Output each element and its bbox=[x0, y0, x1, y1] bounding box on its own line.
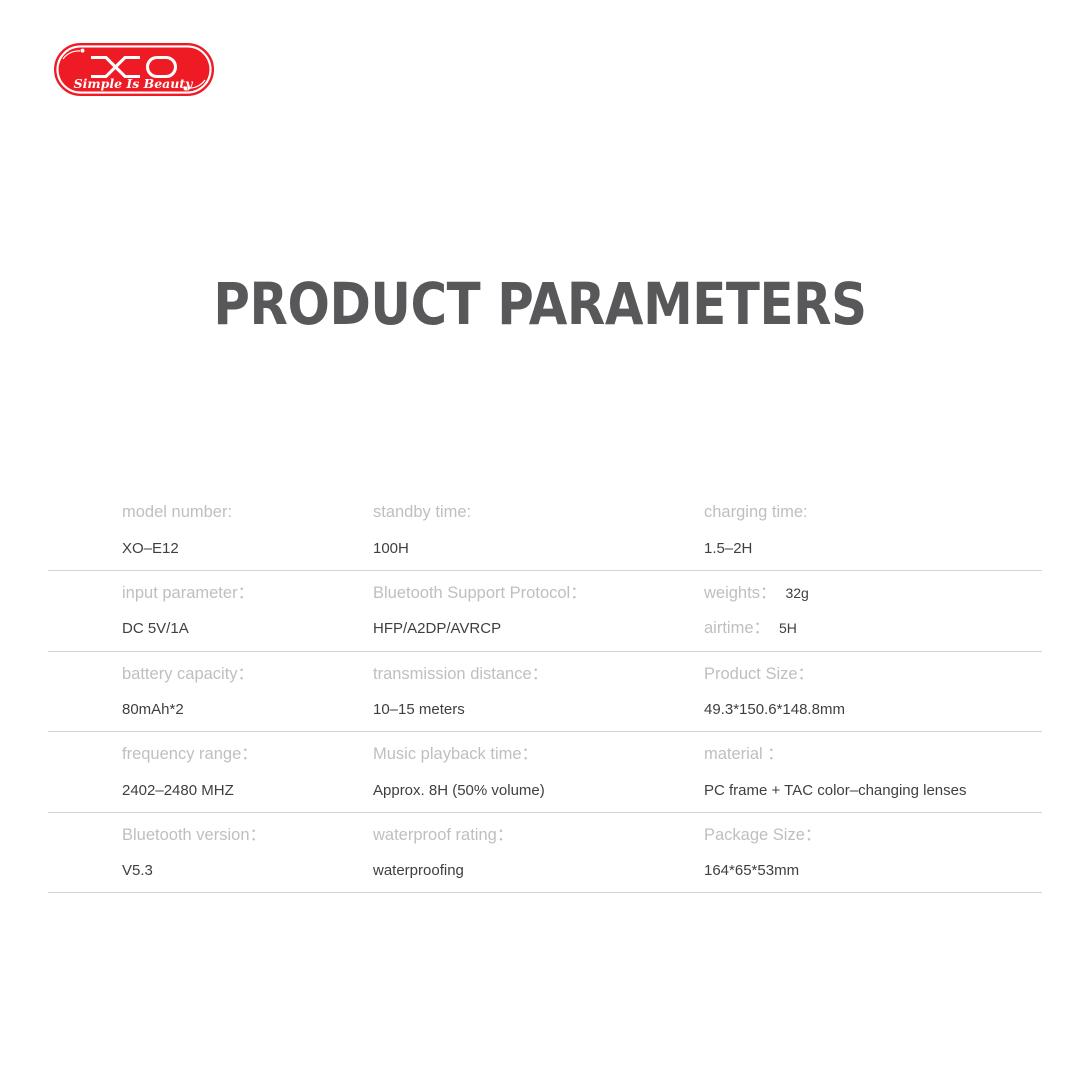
page-title: PRODUCT PARAMETERS bbox=[76, 274, 1005, 335]
spec-value: 164*65*53mm bbox=[704, 863, 1042, 878]
brand-logo: Simple Is Beauty bbox=[54, 43, 214, 96]
spec-label: Product Size： bbox=[704, 666, 1042, 683]
spec-cell: input parameter：DC 5V/1A bbox=[48, 571, 361, 651]
xo-logo-icon: Simple Is Beauty bbox=[54, 43, 214, 96]
spec-label: airtime： bbox=[704, 620, 770, 637]
product-parameters-table: model number:XO–E12standby time:100Hchar… bbox=[48, 490, 1042, 893]
spec-label: waterproof rating： bbox=[373, 827, 691, 844]
table-row: frequency range：2402–2480 MHZMusic playb… bbox=[48, 732, 1042, 813]
table-row: battery capacity：80mAh*2transmission dis… bbox=[48, 652, 1042, 733]
spec-cell: weights：32gairtime：5H bbox=[691, 571, 1042, 651]
spec-value: Approx. 8H (50% volume) bbox=[373, 783, 691, 798]
spec-cell: Bluetooth version：V5.3 bbox=[48, 813, 361, 893]
spec-value: HFP/A2DP/AVRCP bbox=[373, 621, 691, 636]
spec-cell: material ：PC frame + TAC color–changing … bbox=[691, 732, 1042, 812]
spec-label: battery capacity： bbox=[122, 666, 361, 683]
spec-value: V5.3 bbox=[122, 863, 361, 878]
brand-tagline: Simple Is Beauty bbox=[74, 76, 194, 91]
spec-label: Bluetooth version： bbox=[122, 827, 361, 844]
spec-value: 1.5–2H bbox=[704, 541, 1042, 556]
spec-value: 80mAh*2 bbox=[122, 702, 361, 717]
spec-value: 5H bbox=[779, 621, 797, 635]
spec-label: model number: bbox=[122, 504, 361, 521]
spec-value: waterproofing bbox=[373, 863, 691, 878]
spec-label: material ： bbox=[704, 746, 1042, 763]
table-row: input parameter：DC 5V/1ABluetooth Suppor… bbox=[48, 571, 1042, 652]
spec-value: DC 5V/1A bbox=[122, 621, 361, 636]
spec-cell: waterproof rating：waterproofing bbox=[361, 813, 691, 893]
spec-label: Bluetooth Support Protocol： bbox=[373, 585, 691, 602]
table-row: Bluetooth version：V5.3waterproof rating：… bbox=[48, 813, 1042, 894]
spec-label: weights： bbox=[704, 585, 776, 602]
spec-label: Package Size： bbox=[704, 827, 1042, 844]
spec-label: input parameter： bbox=[122, 585, 361, 602]
spec-pair: airtime：5H bbox=[704, 620, 1042, 637]
spec-value: 49.3*150.6*148.8mm bbox=[704, 702, 1042, 717]
spec-cell: frequency range：2402–2480 MHZ bbox=[48, 732, 361, 812]
spec-cell: transmission distance：10–15 meters bbox=[361, 652, 691, 732]
table-row: model number:XO–E12standby time:100Hchar… bbox=[48, 490, 1042, 571]
spec-label: frequency range： bbox=[122, 746, 361, 763]
spec-pair: weights：32g bbox=[704, 585, 1042, 602]
spec-cell: Music playback time：Approx. 8H (50% volu… bbox=[361, 732, 691, 812]
spec-value: PC frame + TAC color–changing lenses bbox=[704, 783, 1042, 798]
spec-label: charging time: bbox=[704, 504, 1042, 521]
spec-value: 32g bbox=[785, 586, 808, 600]
spec-label: standby time: bbox=[373, 504, 691, 521]
spec-cell: model number:XO–E12 bbox=[48, 490, 361, 570]
spec-value: 10–15 meters bbox=[373, 702, 691, 717]
spec-cell: Bluetooth Support Protocol：HFP/A2DP/AVRC… bbox=[361, 571, 691, 651]
spec-value: XO–E12 bbox=[122, 541, 361, 556]
spec-label: Music playback time： bbox=[373, 746, 691, 763]
spec-cell: charging time:1.5–2H bbox=[691, 490, 1042, 570]
spec-label: transmission distance： bbox=[373, 666, 691, 683]
spec-value: 100H bbox=[373, 541, 691, 556]
spec-cell: standby time:100H bbox=[361, 490, 691, 570]
spec-cell: battery capacity：80mAh*2 bbox=[48, 652, 361, 732]
spec-cell: Product Size：49.3*150.6*148.8mm bbox=[691, 652, 1042, 732]
spec-value: 2402–2480 MHZ bbox=[122, 783, 361, 798]
spec-cell: Package Size：164*65*53mm bbox=[691, 813, 1042, 893]
